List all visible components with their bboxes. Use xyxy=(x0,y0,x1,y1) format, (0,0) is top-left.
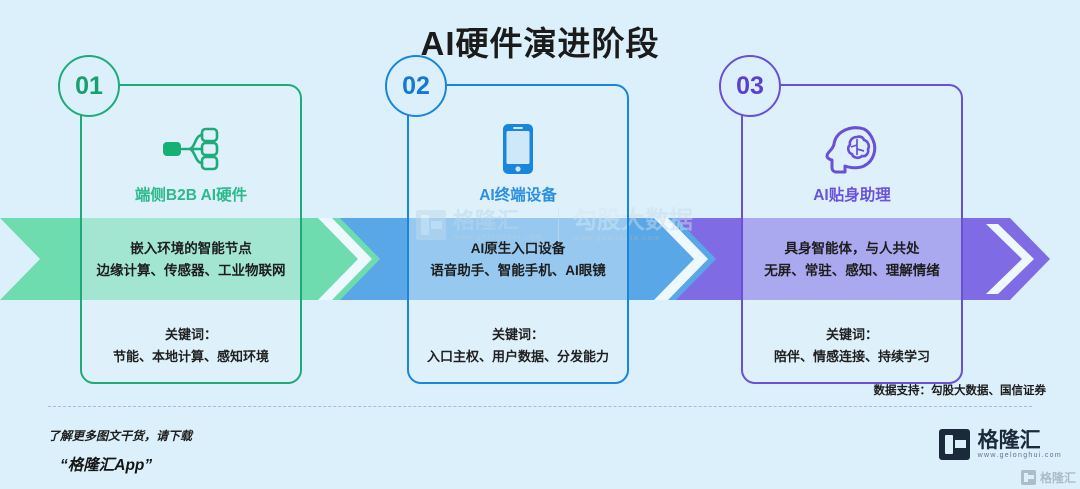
footer-logo-url: www.gelonghui.com xyxy=(978,452,1062,459)
stage-keyword-value-3: 陪伴、情感连接、持续学习 xyxy=(743,346,961,368)
network-node-icon xyxy=(82,118,300,180)
footer-logo-name: 格隆汇 xyxy=(978,430,1062,452)
stage-body-1: 嵌入环境的智能节点 边缘计算、传感器、工业物联网 xyxy=(82,238,300,282)
stage-number-badge-3: 03 xyxy=(719,55,781,117)
footer-promo-line1: 了解更多图文干货，请下载 xyxy=(48,427,192,444)
gelonghui-logo-icon xyxy=(939,429,970,460)
stage-keyword-label-2: 关键词： xyxy=(409,324,627,346)
smartphone-icon xyxy=(409,118,627,180)
footer-promo-line2: “格隆汇App” xyxy=(48,453,192,475)
corner-watermark: 格隆汇 xyxy=(1021,469,1076,486)
stage-keyword-value-2: 入口主权、用户数据、分发能力 xyxy=(409,346,627,368)
stage-body-line1-2: AI原生入口设备 xyxy=(409,238,627,260)
stage-body-line2-1: 边缘计算、传感器、工业物联网 xyxy=(82,260,300,282)
stage-keyword-label-3: 关键词： xyxy=(743,324,961,346)
stage-body-line1-1: 嵌入环境的智能节点 xyxy=(82,238,300,260)
stage-heading-3: AI贴身助理 xyxy=(743,183,961,205)
stage-keywords-2: 关键词： 入口主权、用户数据、分发能力 xyxy=(409,324,627,368)
footer-promo: 了解更多图文干货，请下载 “格隆汇App” xyxy=(48,427,192,475)
stage-body-2: AI原生入口设备 语音助手、智能手机、AI眼镜 xyxy=(409,238,627,282)
source-note: 数据支持：勾股大数据、国信证券 xyxy=(874,382,1047,398)
stage-keyword-value-1: 节能、本地计算、感知环境 xyxy=(82,346,300,368)
stage-cards: 01 端侧B2B AI硬件 嵌入环境的智能节点 边缘计算、传感器、工业物联网 关… xyxy=(0,0,1080,420)
footer-logo[interactable]: 格隆汇 www.gelonghui.com xyxy=(939,429,1062,460)
stage-card-1[interactable]: 01 端侧B2B AI硬件 嵌入环境的智能节点 边缘计算、传感器、工业物联网 关… xyxy=(80,84,302,384)
stage-number-badge-2: 02 xyxy=(385,55,447,117)
stage-keyword-label-1: 关键词： xyxy=(82,324,300,346)
gelonghui-logo-icon xyxy=(1021,470,1036,485)
footer-divider xyxy=(48,406,1032,407)
stage-body-line1-3: 具身智能体，与人共处 xyxy=(743,238,961,260)
stage-heading-2: AI终端设备 xyxy=(409,183,627,205)
stage-heading-1: 端侧B2B AI硬件 xyxy=(82,183,300,205)
head-brain-icon xyxy=(743,118,961,180)
stage-number-badge-1: 01 xyxy=(58,55,120,117)
stage-keywords-1: 关键词： 节能、本地计算、感知环境 xyxy=(82,324,300,368)
corner-watermark-name: 格隆汇 xyxy=(1040,469,1076,486)
stage-keywords-3: 关键词： 陪伴、情感连接、持续学习 xyxy=(743,324,961,368)
stage-card-2[interactable]: 02 AI终端设备 AI原生入口设备 语音助手、智能手机、AI眼镜 关键词： 入… xyxy=(407,84,629,384)
stage-card-3[interactable]: 03 AI贴身助理 具身智能体，与人共处 无屏、常驻、感知、理解情绪 关键词： … xyxy=(741,84,963,384)
stage-body-line2-3: 无屏、常驻、感知、理解情绪 xyxy=(743,260,961,282)
stage-body-line2-2: 语音助手、智能手机、AI眼镜 xyxy=(409,260,627,282)
stage-body-3: 具身智能体，与人共处 无屏、常驻、感知、理解情绪 xyxy=(743,238,961,282)
